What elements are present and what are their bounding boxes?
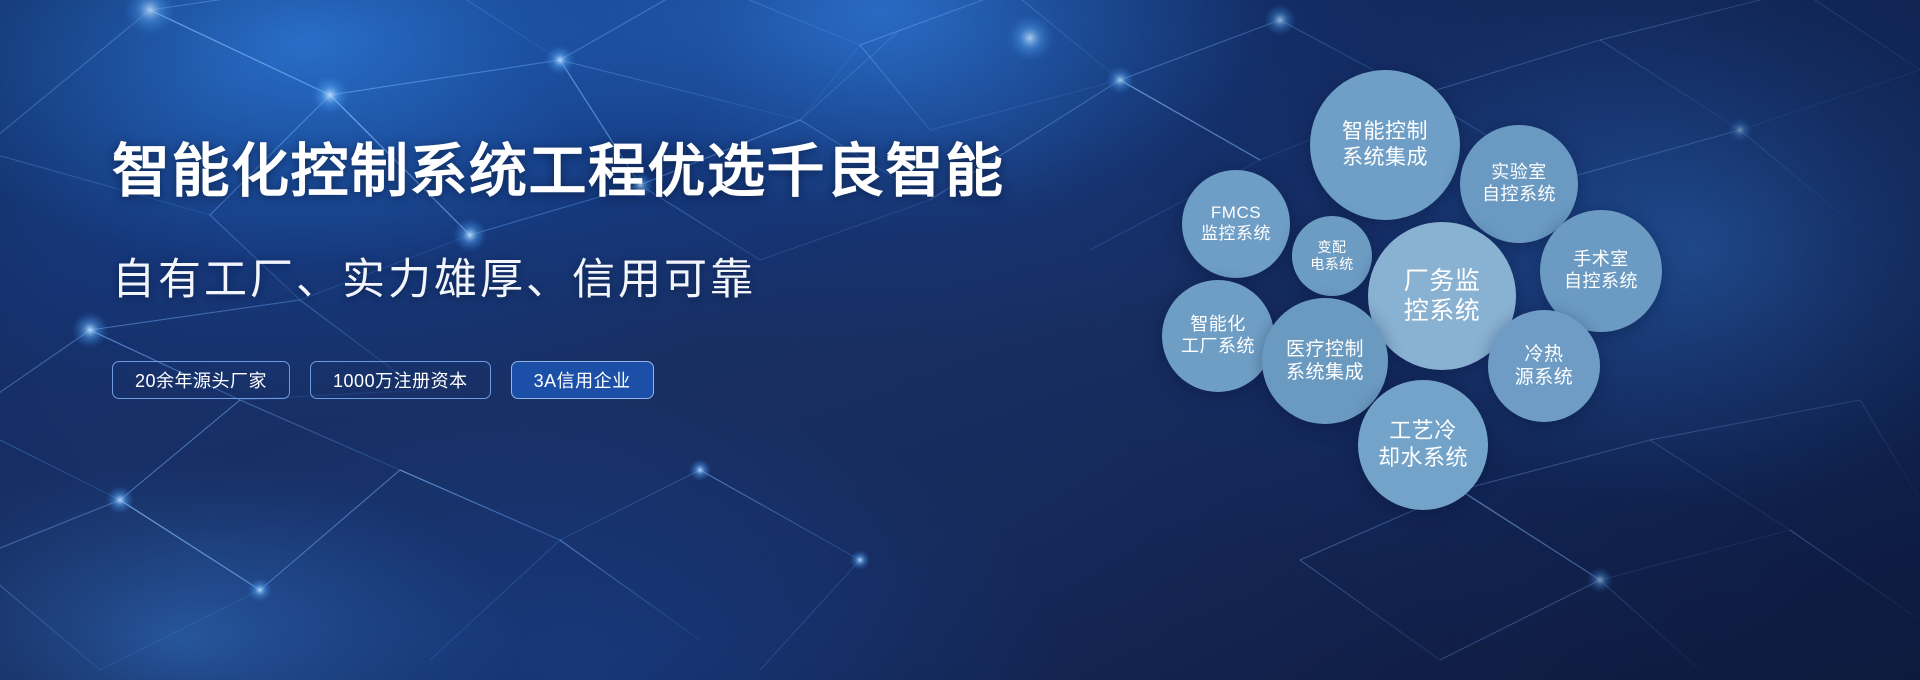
bubble-label-line: 电系统 [1310, 256, 1354, 273]
service-bubble-cluster: 智能控制系统集成实验室自控系统FMCS监控系统变配电系统手术室自控系统厂务监控系… [1140, 20, 1920, 660]
bubble-cold-heat-source[interactable]: 冷热源系统 [1488, 310, 1600, 422]
bubble-smart-control-integration[interactable]: 智能控制系统集成 [1310, 70, 1460, 220]
bubble-label-line: 智能控制 [1342, 119, 1428, 145]
bubble-power-distribution[interactable]: 变配电系统 [1292, 216, 1372, 296]
hero-banner: 智能化控制系统工程优选千良智能 自有工厂、实力雄厚、信用可靠 20余年源头厂家 … [0, 0, 1920, 680]
bubble-label-line: 源系统 [1515, 366, 1574, 389]
bubble-label-line: 实验室 [1491, 162, 1547, 184]
bubble-label-line: 自控系统 [1564, 271, 1638, 293]
badge-capital[interactable]: 1000万注册资本 [310, 361, 491, 399]
bubble-label-line: 自控系统 [1482, 184, 1556, 206]
bubble-label-line: 医疗控制 [1286, 338, 1364, 361]
bubble-label-line: 手术室 [1573, 249, 1629, 271]
bubble-label-line: FMCS [1211, 203, 1261, 224]
bubble-label-line: 系统集成 [1286, 361, 1364, 384]
bubble-label-line: 冷热 [1524, 343, 1563, 366]
badge-years[interactable]: 20余年源头厂家 [112, 361, 290, 399]
bubble-medical-control-integration[interactable]: 医疗控制系统集成 [1262, 298, 1388, 424]
badge-credit[interactable]: 3A信用企业 [511, 361, 654, 399]
hero-copy: 智能化控制系统工程优选千良智能 自有工厂、实力雄厚、信用可靠 20余年源头厂家 … [112, 140, 972, 399]
bubble-label-line: 智能化 [1190, 314, 1246, 336]
page-title: 智能化控制系统工程优选千良智能 [112, 140, 972, 205]
bubble-smart-factory[interactable]: 智能化工厂系统 [1162, 280, 1274, 392]
bubble-label-line: 厂务监 [1404, 266, 1481, 297]
hero-subtitle: 自有工厂、实力雄厚、信用可靠 [112, 255, 972, 307]
badge-list: 20余年源头厂家 1000万注册资本 3A信用企业 [112, 361, 972, 399]
bubble-process-cooling-water[interactable]: 工艺冷却水系统 [1358, 380, 1488, 510]
bubble-fmcs-monitoring[interactable]: FMCS监控系统 [1182, 170, 1290, 278]
bubble-label-line: 监控系统 [1201, 224, 1271, 245]
bubble-label-line: 控系统 [1404, 296, 1481, 327]
bubble-label-line: 变配 [1318, 239, 1347, 256]
bubble-label-line: 工艺冷 [1389, 418, 1457, 445]
bubble-label-line: 工厂系统 [1181, 336, 1255, 358]
bubble-label-line: 系统集成 [1342, 145, 1428, 171]
bubble-label-line: 却水系统 [1378, 445, 1468, 472]
